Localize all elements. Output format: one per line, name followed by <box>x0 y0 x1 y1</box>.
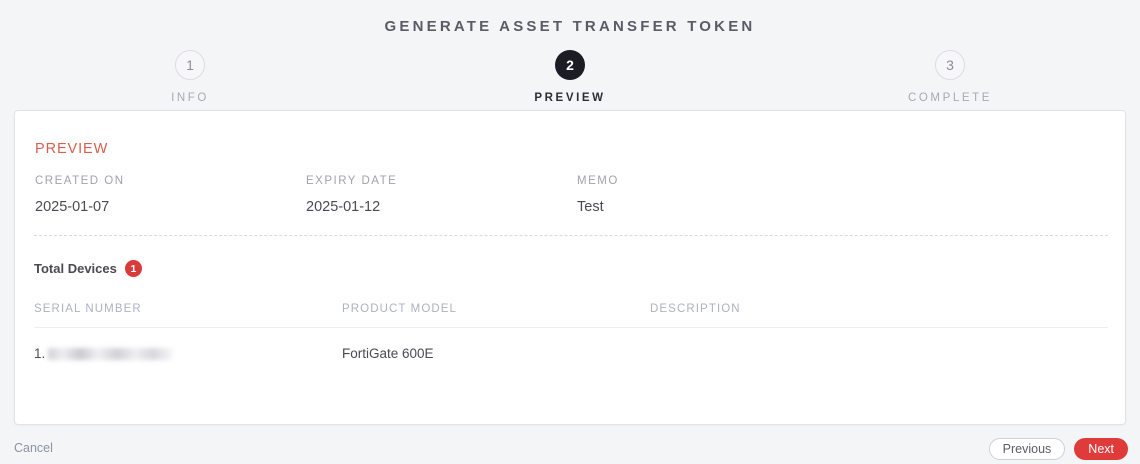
step-2-circle[interactable]: 2 <box>555 50 585 80</box>
previous-button[interactable]: Previous <box>989 438 1066 460</box>
total-devices-badge: 1 <box>125 260 142 277</box>
step-2-label: PREVIEW <box>534 92 605 104</box>
created-on-value: 2025-01-07 <box>35 199 306 215</box>
meta-memo: MEMO Test <box>577 175 619 215</box>
memo-value: Test <box>577 199 619 215</box>
column-header-description: DESCRIPTION <box>650 303 1108 315</box>
section-divider <box>34 235 1108 236</box>
step-3-number: 3 <box>946 57 954 73</box>
device-table: SERIAL NUMBER PRODUCT MODEL DESCRIPTION … <box>34 303 1108 361</box>
column-header-product-model: PRODUCT MODEL <box>342 303 650 315</box>
total-devices-label: Total Devices <box>34 261 117 276</box>
memo-label: MEMO <box>577 175 619 187</box>
wizard-footer: Cancel Previous Next <box>0 433 1140 464</box>
preview-card: PREVIEW CREATED ON 2025-01-07 EXPIRY DAT… <box>14 110 1126 425</box>
footer-button-group: Previous Next <box>989 438 1128 460</box>
cell-product-model: FortiGate 600E <box>342 346 650 361</box>
row-index: 1. <box>34 346 45 361</box>
column-header-serial-number: SERIAL NUMBER <box>34 303 342 315</box>
cancel-link[interactable]: Cancel <box>14 441 53 455</box>
page-title: GENERATE ASSET TRANSFER TOKEN <box>0 0 1140 36</box>
cell-serial-number: 1. <box>34 346 342 361</box>
meta-expiry-date: EXPIRY DATE 2025-01-12 <box>306 175 577 215</box>
wizard-step-complete[interactable]: 3 COMPLETE <box>760 50 1140 104</box>
step-2-number: 2 <box>566 57 574 73</box>
created-on-label: CREATED ON <box>35 175 306 187</box>
table-row: 1. FortiGate 600E <box>34 328 1108 361</box>
expiry-date-value: 2025-01-12 <box>306 199 577 215</box>
step-3-circle[interactable]: 3 <box>935 50 965 80</box>
step-1-circle[interactable]: 1 <box>175 50 205 80</box>
token-meta-row: CREATED ON 2025-01-07 EXPIRY DATE 2025-0… <box>35 175 1107 215</box>
next-button[interactable]: Next <box>1074 438 1128 460</box>
step-1-number: 1 <box>186 57 194 73</box>
section-title: PREVIEW <box>35 141 108 157</box>
wizard-step-indicator: 1 INFO 2 PREVIEW 3 COMPLETE <box>0 50 1140 104</box>
table-header-row: SERIAL NUMBER PRODUCT MODEL DESCRIPTION <box>34 303 1108 328</box>
step-3-label: COMPLETE <box>908 92 992 104</box>
serial-number-redacted <box>48 348 173 360</box>
expiry-date-label: EXPIRY DATE <box>306 175 577 187</box>
wizard-step-preview[interactable]: 2 PREVIEW <box>380 50 760 104</box>
total-devices: Total Devices 1 <box>34 260 142 277</box>
step-1-label: INFO <box>171 92 209 104</box>
wizard-step-info[interactable]: 1 INFO <box>0 50 380 104</box>
meta-created-on: CREATED ON 2025-01-07 <box>35 175 306 215</box>
